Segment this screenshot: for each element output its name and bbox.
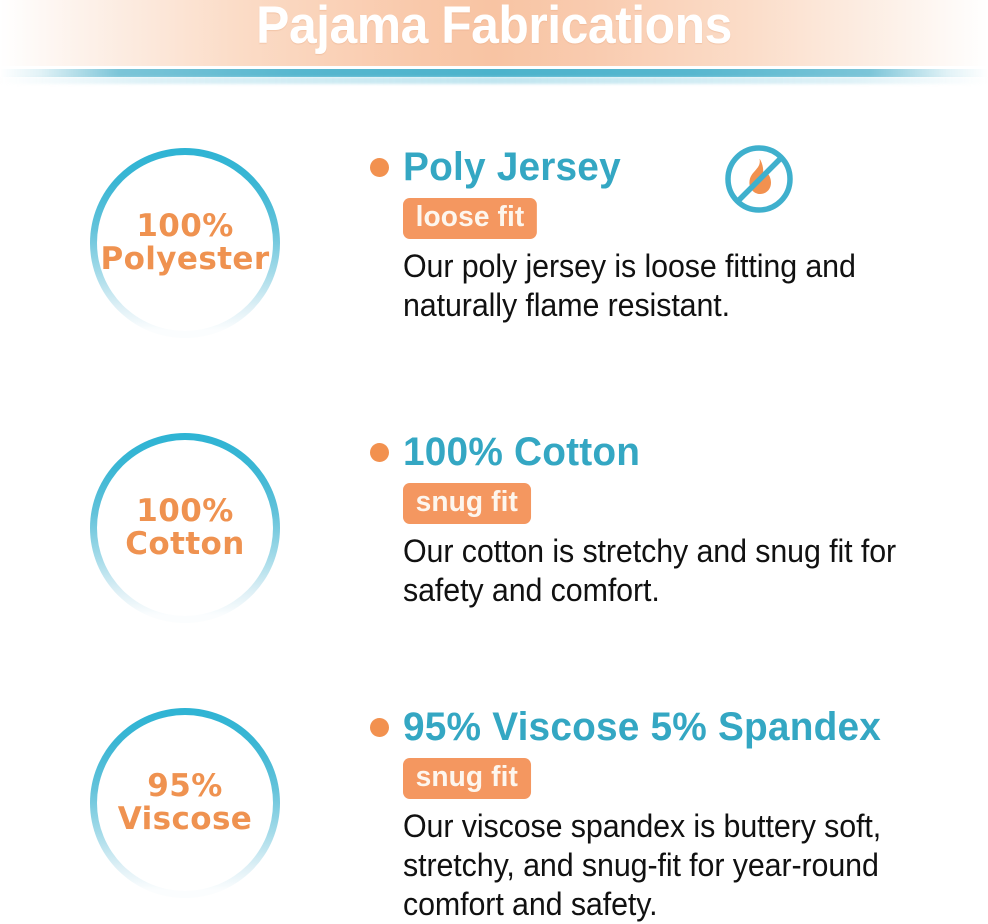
fabric-badge-text: 100% Polyester: [100, 210, 269, 276]
fabric-badge-circle-wrap: 95% Viscose: [0, 700, 370, 900]
fabric-badge-material: Polyester: [100, 243, 269, 276]
header-underline: [0, 69, 988, 77]
fit-badge: snug fit: [403, 758, 531, 799]
fabric-badge-circle-wrap: 100% Cotton: [0, 425, 370, 625]
no-flame-icon: [722, 142, 796, 216]
fabric-row: 95% Viscose 95% Viscose 5% Spandex snug …: [0, 700, 988, 924]
fabric-row: 100% Cotton 100% Cotton snug fit Our cot…: [0, 425, 988, 625]
fabric-badge-material: Cotton: [125, 528, 244, 561]
fabric-badge-text: 95% Viscose: [118, 770, 252, 836]
fabric-heading-line: 95% Viscose 5% Spandex: [370, 704, 988, 750]
fabric-badge-percent: 100%: [125, 495, 244, 528]
fabric-heading-line: 100% Cotton: [370, 429, 988, 475]
fabric-heading-line: Poly Jersey: [370, 144, 988, 190]
fabric-badge-material: Viscose: [118, 803, 252, 836]
fabric-badge-circle-wrap: 100% Polyester: [0, 140, 370, 340]
fabric-content: Poly Jersey loose fit Our poly jersey is…: [370, 140, 988, 325]
fabric-description: Our poly jersey is loose fitting and nat…: [403, 247, 959, 325]
fabric-badge-circle: 100% Cotton: [90, 433, 280, 623]
fabric-badge-circle: 95% Viscose: [90, 708, 280, 898]
bullet-dot-icon: [370, 158, 389, 177]
page-title: Pajama Fabrications: [30, 0, 959, 58]
fabric-content: 100% Cotton snug fit Our cotton is stret…: [370, 425, 988, 610]
fabric-badge-percent: 95%: [118, 770, 252, 803]
infographic-page: Pajama Fabrications 100% Polyester Poly …: [0, 0, 988, 924]
bullet-dot-icon: [370, 443, 389, 462]
fabric-heading: Poly Jersey: [403, 144, 621, 190]
header-underline-glow: [0, 77, 988, 84]
fabric-heading: 95% Viscose 5% Spandex: [403, 704, 881, 750]
fabric-heading: 100% Cotton: [403, 429, 640, 475]
fabric-description: Our viscose spandex is buttery soft, str…: [403, 807, 959, 924]
bullet-dot-icon: [370, 718, 389, 737]
fabric-content: 95% Viscose 5% Spandex snug fit Our visc…: [370, 700, 988, 924]
fit-badge: loose fit: [403, 198, 537, 239]
fabric-badge-percent: 100%: [100, 210, 269, 243]
fabric-row: 100% Polyester Poly Jersey loose fit Our…: [0, 140, 988, 340]
fit-badge: snug fit: [403, 483, 531, 524]
fabric-badge-circle: 100% Polyester: [90, 148, 280, 338]
fabric-description: Our cotton is stretchy and snug fit for …: [403, 532, 959, 610]
fabric-badge-text: 100% Cotton: [125, 495, 244, 561]
header-banner: Pajama Fabrications: [0, 0, 988, 66]
